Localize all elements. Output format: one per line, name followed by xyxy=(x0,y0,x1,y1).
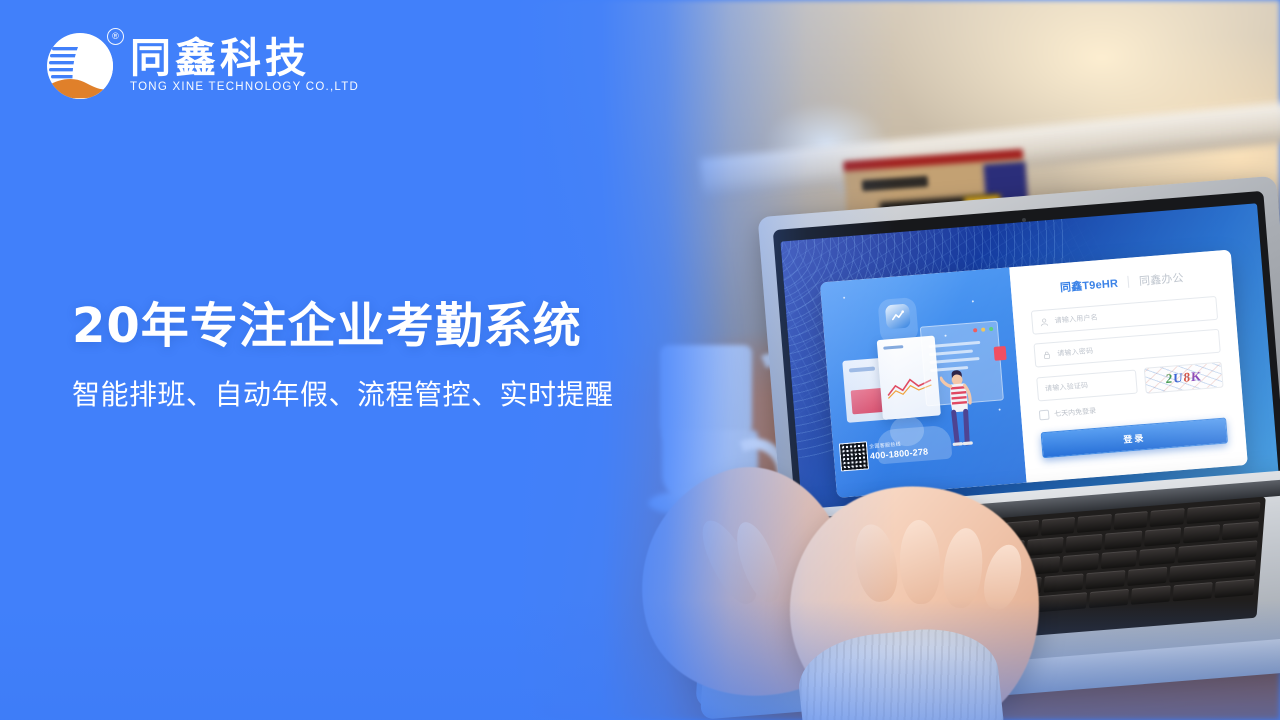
decor-dot xyxy=(843,297,845,299)
captcha-row: 请输入验证码 2U8K xyxy=(1036,362,1223,403)
tab-divider xyxy=(1128,276,1130,288)
laptop-screen: 全国客服热线 400-1800-278 同鑫T9eHR 同鑫办公 xyxy=(780,203,1279,522)
chart-badge-icon xyxy=(885,304,911,330)
remember-label: 七天内免登录 xyxy=(1054,406,1097,419)
logo-text-block: 同鑫科技 TONG XINE TECHNOLOGY CO.,LTD xyxy=(130,38,359,94)
lock-icon xyxy=(1042,350,1052,360)
registered-trademark-icon: ® xyxy=(107,28,124,45)
user-icon xyxy=(1039,317,1049,327)
decor-dot xyxy=(999,409,1001,411)
hero-subhead: 智能排班、自动年假、流程管控、实时提醒 xyxy=(72,378,672,412)
decor-dot xyxy=(972,300,974,302)
hero-headline: 20年专注企业考勤系统 xyxy=(72,300,672,354)
sail-circle-logo-icon: ® xyxy=(44,30,116,102)
login-card: 全国客服热线 400-1800-278 同鑫T9eHR 同鑫办公 xyxy=(820,250,1248,498)
company-name-cn: 同鑫科技 xyxy=(130,38,359,79)
tab-office[interactable]: 同鑫办公 xyxy=(1138,269,1184,289)
login-tabs: 同鑫T9eHR 同鑫办公 xyxy=(1028,267,1215,298)
login-button[interactable]: 登录 xyxy=(1041,417,1228,458)
tab-t9ehr[interactable]: 同鑫T9eHR xyxy=(1059,275,1118,296)
hero-banner: 全国客服热线 400-1800-278 同鑫T9eHR 同鑫办公 xyxy=(0,0,1280,720)
company-name-en: TONG XINE TECHNOLOGY CO.,LTD xyxy=(130,82,359,94)
password-field[interactable]: 请输入密码 xyxy=(1033,329,1220,368)
hero-copy: 20年专注企业考勤系统 智能排班、自动年假、流程管控、实时提醒 xyxy=(72,300,672,411)
captcha-placeholder: 请输入验证码 xyxy=(1045,380,1089,393)
password-placeholder: 请输入密码 xyxy=(1057,346,1094,359)
company-logo[interactable]: ® 同鑫科技 TONG XINE TECHNOLOGY CO.,LTD xyxy=(44,30,359,102)
qr-code-icon xyxy=(839,441,869,471)
captcha-noise xyxy=(1145,363,1223,393)
username-placeholder: 请输入用户名 xyxy=(1054,312,1098,325)
username-field[interactable]: 请输入用户名 xyxy=(1031,296,1218,335)
remember-checkbox[interactable] xyxy=(1039,410,1050,421)
captcha-image[interactable]: 2U8K xyxy=(1144,362,1224,394)
captcha-field[interactable]: 请输入验证码 xyxy=(1036,370,1138,402)
login-form-panel: 同鑫T9eHR 同鑫办公 请输入用户名 xyxy=(1009,250,1248,483)
accent-square xyxy=(994,346,1007,361)
login-illustration-panel: 全国客服热线 400-1800-278 xyxy=(820,267,1027,498)
